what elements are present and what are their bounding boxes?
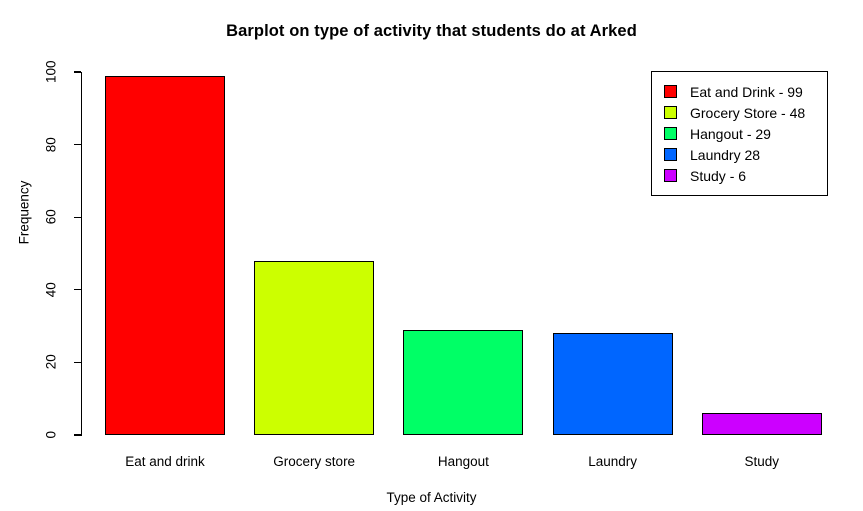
y-tick-label-100: 100 (44, 55, 58, 89)
legend-item-3: Laundry 28 (664, 144, 819, 165)
x-tick-label-study: Study (672, 454, 852, 469)
bar-eat-and-drink (105, 76, 225, 435)
legend-item-4: Study - 6 (664, 165, 819, 186)
legend-swatch-icon (664, 85, 677, 98)
bar-study (702, 413, 822, 435)
y-tick-20 (74, 362, 81, 363)
legend-swatch-icon (664, 169, 677, 182)
y-tick-label-60: 60 (44, 200, 58, 234)
legend-swatch-icon (664, 127, 677, 140)
legend-label: Study - 6 (690, 169, 746, 183)
bar-laundry (553, 333, 673, 435)
y-tick-label-20: 20 (44, 345, 58, 379)
legend-label: Hangout - 29 (690, 127, 771, 141)
legend-label: Grocery Store - 48 (690, 106, 805, 120)
y-tick-label-0: 0 (44, 418, 58, 452)
y-tick-label-80: 80 (44, 127, 58, 161)
y-tick-label-40: 40 (44, 273, 58, 307)
y-tick-40 (74, 289, 81, 290)
barplot-figure: Barplot on type of activity that student… (0, 0, 863, 511)
y-tick-0 (74, 434, 81, 435)
legend-item-1: Grocery Store - 48 (664, 102, 819, 123)
legend-swatch-icon (664, 106, 677, 119)
x-axis-title: Type of Activity (0, 490, 863, 505)
chart-title: Barplot on type of activity that student… (0, 22, 863, 41)
y-tick-80 (74, 144, 81, 145)
legend-item-0: Eat and Drink - 99 (664, 81, 819, 102)
legend-swatch-icon (664, 148, 677, 161)
legend-item-2: Hangout - 29 (664, 123, 819, 144)
y-axis-title: Frequency (17, 143, 32, 283)
bar-grocery-store (254, 261, 374, 435)
y-tick-60 (74, 217, 81, 218)
bar-hangout (403, 330, 523, 435)
chart-legend: Eat and Drink - 99Grocery Store - 48Hang… (651, 71, 828, 196)
legend-label: Eat and Drink - 99 (690, 85, 803, 99)
y-tick-100 (74, 71, 81, 72)
legend-label: Laundry 28 (690, 148, 760, 162)
